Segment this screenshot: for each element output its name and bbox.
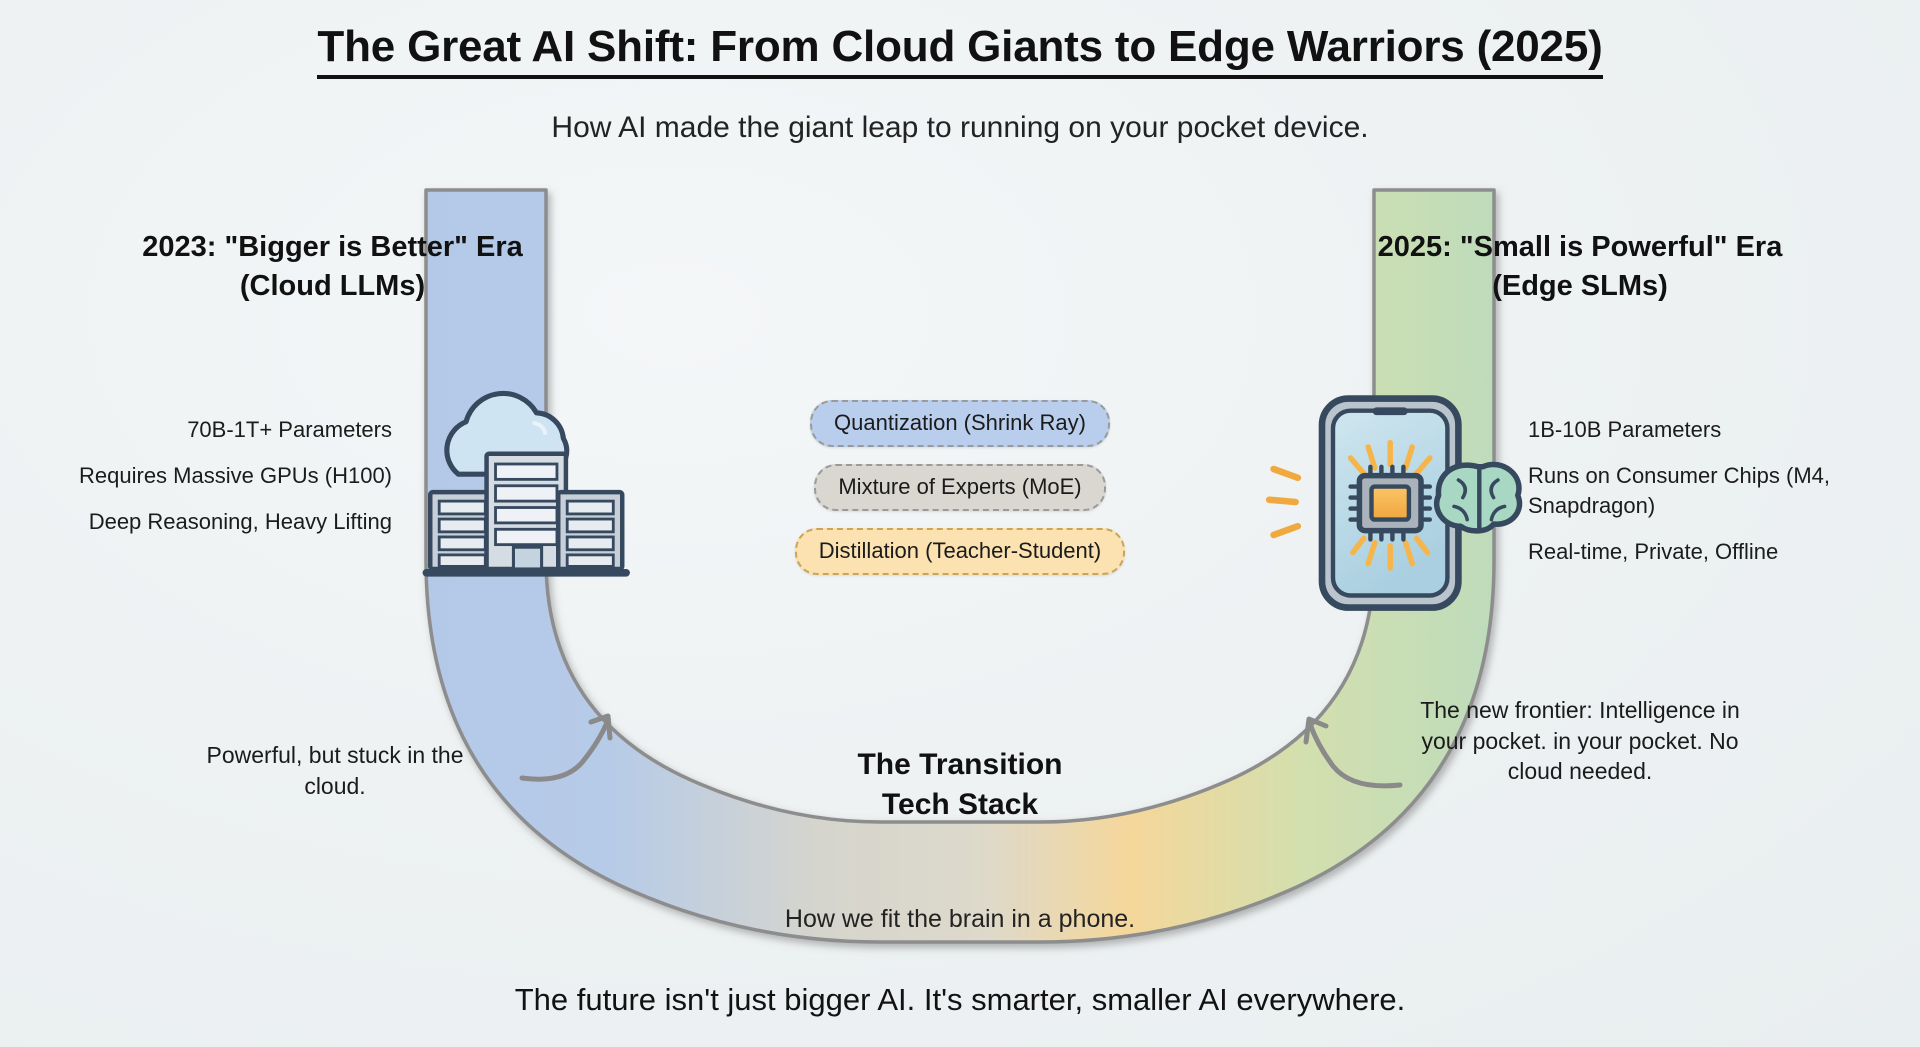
- transition-curve-label: The Transition Tech Stack: [660, 745, 1260, 825]
- transition-curve-label-line1: The Transition: [660, 745, 1260, 785]
- era-left-bullets: 70B-1T+ Parameters Requires Massive GPUs…: [0, 415, 392, 553]
- infographic-canvas: The Great AI Shift: From Cloud Giants to…: [0, 0, 1920, 1047]
- chip-glow-icon: [1351, 443, 1430, 568]
- list-item: 70B-1T+ Parameters: [0, 415, 392, 445]
- era-right-heading-line2: (Edge SLMs): [1300, 267, 1860, 306]
- era-left-heading-line1: 2023: "Bigger is Better" Era: [60, 228, 605, 267]
- footer-tagline: The future isn't just bigger AI. It's sm…: [0, 982, 1920, 1018]
- arrow-left-annotation: [522, 716, 610, 779]
- list-item: Runs on Consumer Chips (M4, Snapdragon): [1528, 461, 1920, 521]
- chip-icon: [1351, 467, 1430, 540]
- list-item: Deep Reasoning, Heavy Lifting: [0, 507, 392, 537]
- phone-chip-brain-icon: [1269, 399, 1519, 608]
- transition-tech-pills: Quantization (Shrink Ray) Mixture of Exp…: [760, 400, 1160, 575]
- pill-distillation[interactable]: Distillation (Teacher-Student): [795, 528, 1125, 575]
- era-right-heading-line1: 2025: "Small is Powerful" Era: [1300, 228, 1860, 267]
- pill-mixture-of-experts[interactable]: Mixture of Experts (MoE): [814, 464, 1105, 511]
- list-item: 1B-10B Parameters: [1528, 415, 1920, 445]
- page-title-text: The Great AI Shift: From Cloud Giants to…: [317, 22, 1602, 79]
- arrow-right-annotation: [1306, 719, 1400, 786]
- annotation-right: The new frontier: Intelligence in your p…: [1400, 695, 1760, 787]
- page-title: The Great AI Shift: From Cloud Giants to…: [0, 22, 1920, 72]
- cloud-datacenter-icon: [423, 393, 630, 576]
- list-item: Real-time, Private, Offline: [1528, 537, 1920, 567]
- page-subtitle: How AI made the giant leap to running on…: [0, 111, 1920, 145]
- footer-caption: How we fit the brain in a phone.: [0, 905, 1920, 934]
- era-left-heading: 2023: "Bigger is Better" Era (Cloud LLMs…: [60, 228, 605, 305]
- pill-quantization[interactable]: Quantization (Shrink Ray): [810, 400, 1110, 447]
- era-right-heading: 2025: "Small is Powerful" Era (Edge SLMs…: [1300, 228, 1860, 305]
- annotation-left: Powerful, but stuck in the cloud.: [180, 740, 490, 801]
- energy-rays-icon: [1269, 469, 1298, 535]
- era-left-heading-line2: (Cloud LLMs): [60, 267, 605, 306]
- brain-icon: [1437, 464, 1520, 530]
- transition-curve-label-line2: Tech Stack: [660, 785, 1260, 825]
- era-right-bullets: 1B-10B Parameters Runs on Consumer Chips…: [1528, 415, 1920, 583]
- list-item: Requires Massive GPUs (H100): [0, 461, 392, 491]
